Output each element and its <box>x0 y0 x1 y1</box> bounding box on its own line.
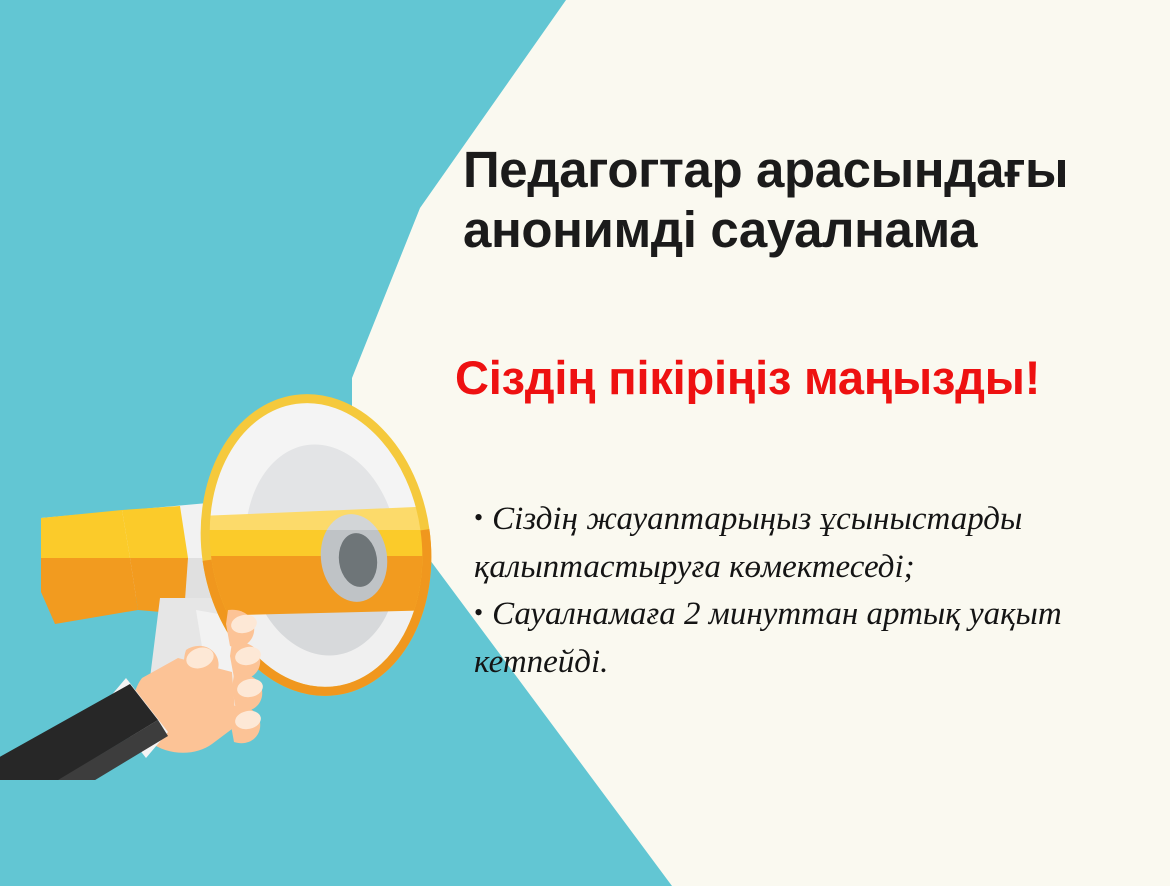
page-title: Педагогтар арасындағы анонимді сауалнама <box>463 140 1163 260</box>
bullet-dot-icon: • <box>474 503 492 532</box>
text-column: Педагогтар арасындағы анонимді сауалнама… <box>452 0 1170 886</box>
benefits-list: •Сіздің жауаптарыңыз ұсыныстарды қалыпта… <box>474 496 1164 686</box>
list-item-label: Сауалнамаға 2 минуттан артық уақыт кетпе… <box>474 596 1062 680</box>
list-item: •Сіздің жауаптарыңыз ұсыныстарды қалыпта… <box>474 496 1164 591</box>
list-item: •Сауалнамаға 2 минуттан артық уақыт кетп… <box>474 591 1164 686</box>
poster-canvas: Педагогтар арасындағы анонимді сауалнама… <box>0 0 1170 886</box>
list-item-label: Сіздің жауаптарыңыз ұсыныстарды қалыптас… <box>474 501 1022 585</box>
subheadline: Сіздің пікіріңіз маңызды! <box>455 352 1167 404</box>
bullet-dot-icon: • <box>474 598 492 627</box>
